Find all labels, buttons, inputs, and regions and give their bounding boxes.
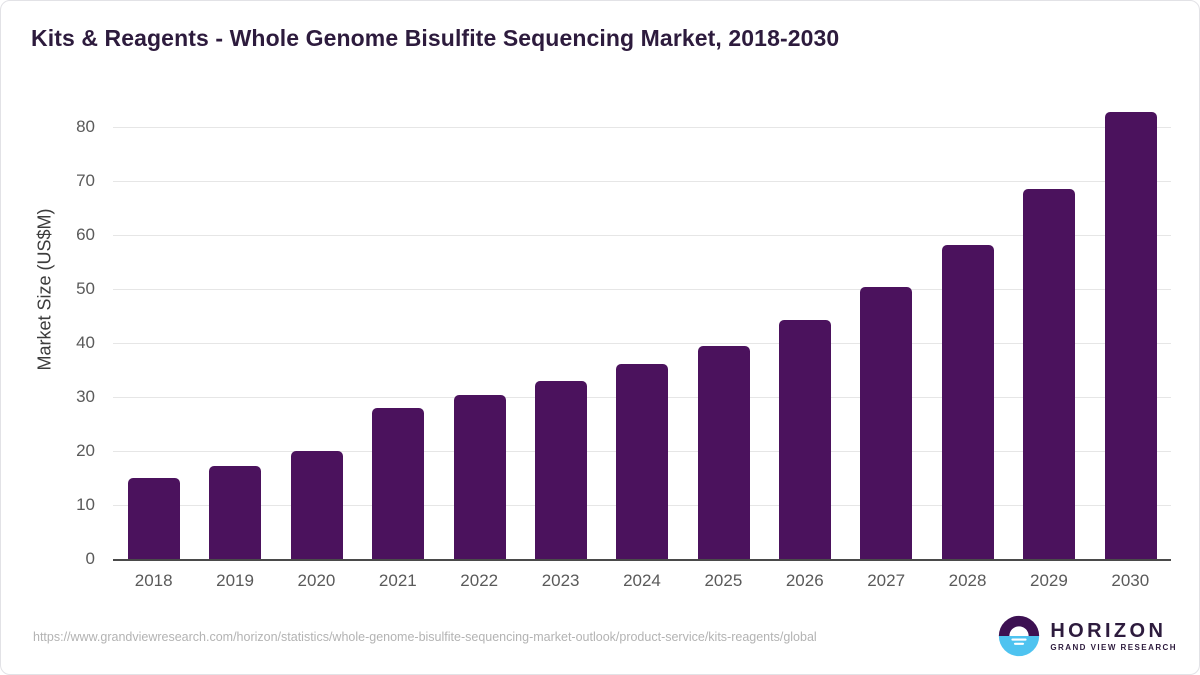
x-tick-label: 2027 <box>845 571 926 591</box>
x-tick-label: 2029 <box>1008 571 1089 591</box>
bar[interactable] <box>1105 112 1157 559</box>
y-tick-label: 40 <box>35 333 95 353</box>
x-axis-line <box>113 559 1171 561</box>
x-tick-label: 2024 <box>601 571 682 591</box>
bar[interactable] <box>291 451 343 559</box>
horizon-logo-icon <box>998 615 1040 657</box>
bar[interactable] <box>535 381 587 559</box>
logo-tagline: GRAND VIEW RESEARCH <box>1050 644 1177 652</box>
bar[interactable] <box>616 364 668 559</box>
bar[interactable] <box>1023 189 1075 559</box>
bar[interactable] <box>860 287 912 559</box>
y-tick-label: 80 <box>35 117 95 137</box>
x-tick-label: 2023 <box>520 571 601 591</box>
x-tick-label: 2025 <box>683 571 764 591</box>
bar-slot <box>845 127 926 559</box>
bar-slot <box>276 127 357 559</box>
bar-slot <box>927 127 1008 559</box>
bar-slot <box>1008 127 1089 559</box>
x-tick-label: 2022 <box>439 571 520 591</box>
logo-name: HORIZON <box>1050 621 1177 641</box>
bar-slot <box>113 127 194 559</box>
bar-slot <box>601 127 682 559</box>
y-tick-label: 50 <box>35 279 95 299</box>
x-tick-label: 2018 <box>113 571 194 591</box>
logo-wordmark: HORIZON GRAND VIEW RESEARCH <box>1050 621 1177 652</box>
chart-page: Kits & Reagents - Whole Genome Bisulfite… <box>0 0 1200 675</box>
x-tick-label: 2028 <box>927 571 1008 591</box>
bar[interactable] <box>779 320 831 559</box>
bar-slot <box>439 127 520 559</box>
bar[interactable] <box>209 466 261 559</box>
y-tick-label: 20 <box>35 441 95 461</box>
y-tick-label: 0 <box>35 549 95 569</box>
x-tick-label: 2020 <box>276 571 357 591</box>
bar[interactable] <box>372 408 424 559</box>
bar-slot <box>520 127 601 559</box>
page-title: Kits & Reagents - Whole Genome Bisulfite… <box>31 25 839 52</box>
x-axis-ticks: 2018201920202021202220232024202520262027… <box>113 571 1171 601</box>
x-tick-label: 2026 <box>764 571 845 591</box>
bar[interactable] <box>128 478 180 559</box>
x-tick-label: 2021 <box>357 571 438 591</box>
y-tick-label: 30 <box>35 387 95 407</box>
y-tick-label: 60 <box>35 225 95 245</box>
bar-slot <box>357 127 438 559</box>
bar-slot <box>1090 127 1171 559</box>
y-tick-label: 10 <box>35 495 95 515</box>
source-url[interactable]: https://www.grandviewresearch.com/horizo… <box>33 629 933 646</box>
bar-slot <box>683 127 764 559</box>
y-tick-label: 70 <box>35 171 95 191</box>
bar-slot <box>764 127 845 559</box>
x-tick-label: 2030 <box>1090 571 1171 591</box>
brand-logo[interactable]: HORIZON GRAND VIEW RESEARCH <box>998 615 1177 657</box>
bar[interactable] <box>942 245 994 559</box>
bar-slot <box>194 127 275 559</box>
bar[interactable] <box>454 395 506 559</box>
bar-series <box>113 127 1171 559</box>
bar[interactable] <box>698 346 750 559</box>
x-tick-label: 2019 <box>194 571 275 591</box>
